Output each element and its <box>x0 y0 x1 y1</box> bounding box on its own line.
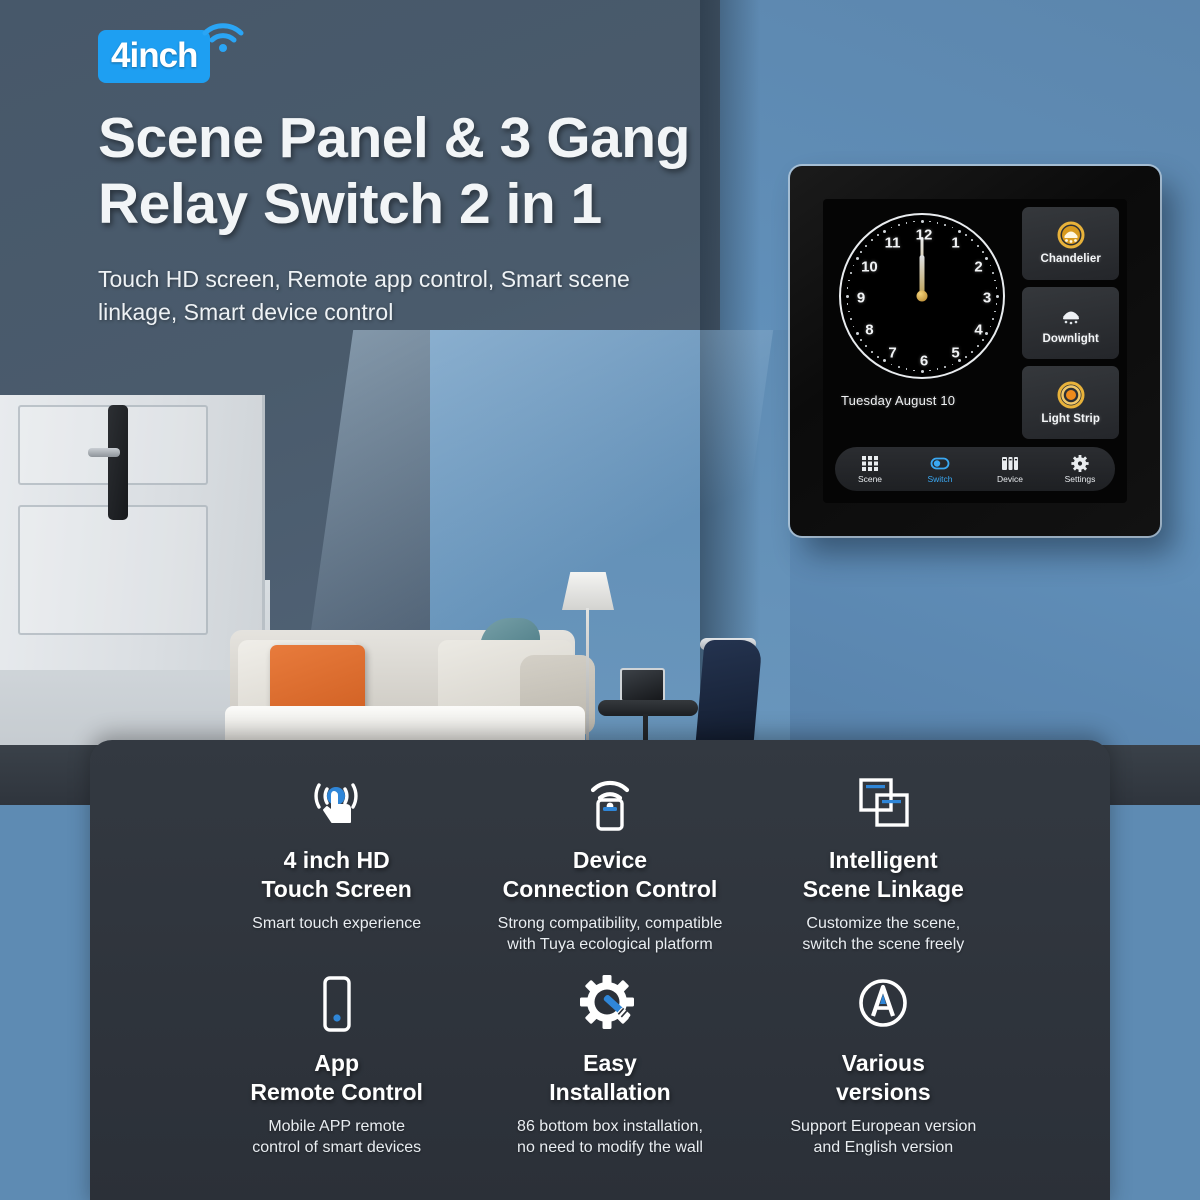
title-line-2: Relay Switch 2 in 1 <box>98 172 738 238</box>
device-button-column: Chandelier Downlight <box>1022 207 1119 439</box>
device-button-label: Light Strip <box>1041 413 1100 425</box>
feature-title-line2: Touch Screen <box>261 875 411 904</box>
chandelier-icon <box>1057 221 1085 249</box>
clock-tick <box>848 311 850 313</box>
feature-desc-line2: with Tuya ecological platform <box>498 934 723 955</box>
feature-touch-screen: 4 inch HD Touch Screen Smart touch exper… <box>200 762 473 955</box>
clock-tick <box>992 272 994 274</box>
clock-numeral: 7 <box>888 344 896 361</box>
nav-label: Scene <box>858 474 882 484</box>
feature-title-line1: Intelligent <box>803 846 964 875</box>
clock-tick <box>958 230 961 233</box>
clock-tick <box>921 220 924 223</box>
clock-tick <box>952 364 954 366</box>
clock-numeral: 9 <box>857 290 865 307</box>
gear-screwdriver-icon <box>574 965 646 1047</box>
feature-title-line2: Scene Linkage <box>803 875 964 904</box>
device-button-label: Downlight <box>1042 333 1098 345</box>
clock-tick <box>977 245 979 247</box>
clock-numeral: 4 <box>974 321 982 338</box>
feature-desc-line1: Smart touch experience <box>252 913 421 934</box>
clock-tick <box>944 224 946 226</box>
downlight-icon <box>1057 301 1085 329</box>
clock-tick <box>944 366 946 368</box>
feature-title: Intelligent Scene Linkage <box>803 846 964 904</box>
touch-hand-icon <box>301 762 373 844</box>
feature-title: Various versions <box>836 1049 931 1107</box>
feature-app-remote: App Remote Control Mobile APP remote con… <box>200 965 473 1158</box>
feature-desc: Strong compatibility, compatible with Tu… <box>498 913 723 955</box>
feature-desc-line1: Support European version <box>790 1116 976 1137</box>
feature-desc: 86 bottom box installation, no need to m… <box>517 1116 703 1158</box>
clock-tick <box>992 318 994 320</box>
clock-tick <box>937 222 939 224</box>
clock-tick <box>891 364 893 366</box>
feature-title-line2: versions <box>836 1078 931 1107</box>
device-button-label: Chandelier <box>1040 253 1100 265</box>
door-panel-bottom <box>18 505 208 635</box>
floor-lamp-pole <box>586 608 589 740</box>
clock-tick <box>853 326 855 328</box>
wifi-device-icon <box>574 762 646 844</box>
clock-tick <box>883 230 886 233</box>
feature-title: App Remote Control <box>250 1049 423 1107</box>
clock-tick <box>856 257 859 260</box>
feature-panel: 4 inch HD Touch Screen Smart touch exper… <box>90 740 1110 1200</box>
clock-tick <box>860 339 862 341</box>
clock-tick <box>898 224 900 226</box>
clock-numeral: 8 <box>865 321 873 338</box>
feature-title-line2: Installation <box>549 1078 670 1107</box>
clock-numeral: 3 <box>983 290 991 307</box>
overlapping-squares-icon <box>847 762 919 844</box>
clock-widget[interactable]: 121234567891011 Tuesday August 10 <box>831 207 1014 439</box>
clock-tick <box>965 234 967 236</box>
circled-a-icon <box>847 965 919 1047</box>
feature-desc-line2: no need to modify the wall <box>517 1137 703 1158</box>
feature-desc-line2: control of smart devices <box>252 1137 421 1158</box>
clock-tick <box>913 370 915 372</box>
clock-tick <box>982 251 984 253</box>
clock-tick <box>996 295 999 298</box>
feature-title: 4 inch HD Touch Screen <box>261 846 411 904</box>
nav-item-device[interactable]: Device <box>975 455 1045 484</box>
clock-tick <box>990 326 992 328</box>
feature-title-line2: Remote Control <box>250 1078 423 1107</box>
light-beam <box>307 330 773 660</box>
title-line-1: Scene Panel & 3 Gang <box>98 106 738 172</box>
size-badge: 4inch <box>98 30 210 83</box>
smart-panel-device: 121234567891011 Tuesday August 10 <box>790 166 1160 536</box>
feature-desc: Support European version and English ver… <box>790 1116 976 1158</box>
bottom-nav: Scene Switch <box>835 447 1115 491</box>
feature-desc: Mobile APP remote control of smart devic… <box>252 1116 421 1158</box>
device-button-light-strip[interactable]: Light Strip <box>1022 366 1119 439</box>
feature-title-line1: Easy <box>549 1049 670 1078</box>
feature-desc-line2: switch the scene freely <box>802 934 964 955</box>
clock-tick <box>985 332 988 335</box>
clock-tick <box>994 280 996 282</box>
side-table <box>598 700 698 716</box>
clock-tick <box>898 366 900 368</box>
clock-tick <box>883 359 886 362</box>
phone-icon <box>301 965 373 1047</box>
clock-tick <box>906 368 908 370</box>
clock-tick <box>971 351 973 353</box>
device-screen[interactable]: 121234567891011 Tuesday August 10 <box>823 199 1127 503</box>
feature-desc-line1: 86 bottom box installation, <box>517 1116 703 1137</box>
clock-numeral: 10 <box>861 258 878 275</box>
feature-title-line1: 4 inch HD <box>261 846 411 875</box>
smart-lock <box>108 405 128 520</box>
feature-title: Device Connection Control <box>503 846 718 904</box>
clock-tick <box>877 356 879 358</box>
feature-desc-line1: Strong compatibility, compatible <box>498 913 723 934</box>
clock-numeral: 2 <box>974 258 982 275</box>
clock-tick <box>850 318 852 320</box>
clock-numeral: 6 <box>920 353 928 370</box>
clock-tick <box>847 287 849 289</box>
product-marketing-image: 4inch Scene Panel & 3 Gang Relay Switch … <box>0 0 1200 1200</box>
device-icon <box>1000 455 1020 472</box>
clock-numeral: 12 <box>916 227 933 244</box>
feature-grid: 4 inch HD Touch Screen Smart touch exper… <box>200 762 1020 1158</box>
feature-title: Easy Installation <box>549 1049 670 1107</box>
clock-tick <box>877 234 879 236</box>
feature-desc-line2: and English version <box>790 1137 976 1158</box>
door-handle <box>88 448 120 457</box>
screen-content: 121234567891011 Tuesday August 10 <box>831 207 1119 439</box>
feature-title-line1: Device <box>503 846 718 875</box>
clock-tick <box>994 311 996 313</box>
clock-tick <box>996 287 998 289</box>
clock-tick <box>871 239 873 241</box>
clock-tick <box>952 227 954 229</box>
clock-tick <box>929 370 931 372</box>
clock-tick <box>846 295 849 298</box>
floor-lamp-shade <box>562 572 614 610</box>
feature-title-line1: App <box>250 1049 423 1078</box>
clock-numeral: 1 <box>951 235 959 252</box>
clock-tick <box>985 257 988 260</box>
clock-tick <box>982 339 984 341</box>
clock-tick <box>965 356 967 358</box>
nav-item-scene[interactable]: Scene <box>835 455 905 484</box>
laptop <box>620 668 665 702</box>
clock-numeral: 11 <box>885 235 901 252</box>
feature-device-connection: Device Connection Control Strong compati… <box>473 762 746 955</box>
feature-desc-line1: Customize the scene, <box>802 913 964 934</box>
badge-row: 4inch <box>98 30 738 92</box>
clock-face: 121234567891011 <box>839 213 1005 379</box>
clock-tick <box>958 359 961 362</box>
wifi-icon <box>201 20 245 54</box>
clock-tick <box>937 368 939 370</box>
clock-tick <box>850 272 852 274</box>
nav-item-switch[interactable]: Switch <box>905 455 975 484</box>
device-button-downlight[interactable]: Downlight <box>1022 287 1119 360</box>
date-label: Tuesday August 10 <box>841 393 955 408</box>
gear-icon <box>1070 455 1090 472</box>
clock-tick <box>977 345 979 347</box>
clock-center-pin <box>917 291 928 302</box>
toggle-icon <box>930 455 950 472</box>
clock-tick <box>860 251 862 253</box>
feature-scene-linkage: Intelligent Scene Linkage Customize the … <box>747 762 1020 955</box>
page-subtitle: Touch HD screen, Remote app control, Sma… <box>98 263 678 328</box>
navy-chair <box>695 640 762 745</box>
nav-label: Settings <box>1065 474 1096 484</box>
clock-tick <box>990 265 992 267</box>
feature-title-line2: Connection Control <box>503 875 718 904</box>
light-strip-icon <box>1057 381 1085 409</box>
clock-tick <box>906 222 908 224</box>
door <box>0 395 265 670</box>
clock-tick <box>929 221 931 223</box>
clock-tick <box>865 245 867 247</box>
device-button-chandelier[interactable]: Chandelier <box>1022 207 1119 280</box>
feature-desc: Customize the scene, switch the scene fr… <box>802 913 964 955</box>
feature-desc-line1: Mobile APP remote <box>252 1116 421 1137</box>
clock-tick <box>913 221 915 223</box>
clock-tick <box>996 303 998 305</box>
nav-label: Switch <box>927 474 952 484</box>
page-title: Scene Panel & 3 Gang Relay Switch 2 in 1 <box>98 106 738 237</box>
clock-tick <box>871 351 873 353</box>
clock-tick <box>921 370 924 373</box>
nav-item-settings[interactable]: Settings <box>1045 455 1115 484</box>
clock-tick <box>856 332 859 335</box>
feature-various-versions: Various versions Support European versio… <box>747 965 1020 1158</box>
headline-block: 4inch Scene Panel & 3 Gang Relay Switch … <box>98 30 738 328</box>
feature-easy-installation: Easy Installation 86 bottom box installa… <box>473 965 746 1158</box>
clock-tick <box>847 303 849 305</box>
clock-tick <box>971 239 973 241</box>
grid-icon <box>860 455 880 472</box>
nav-label: Device <box>997 474 1023 484</box>
feature-desc: Smart touch experience <box>252 913 421 934</box>
clock-tick <box>848 280 850 282</box>
clock-tick <box>853 265 855 267</box>
feature-title-line1: Various <box>836 1049 931 1078</box>
clock-tick <box>891 227 893 229</box>
clock-tick <box>865 345 867 347</box>
